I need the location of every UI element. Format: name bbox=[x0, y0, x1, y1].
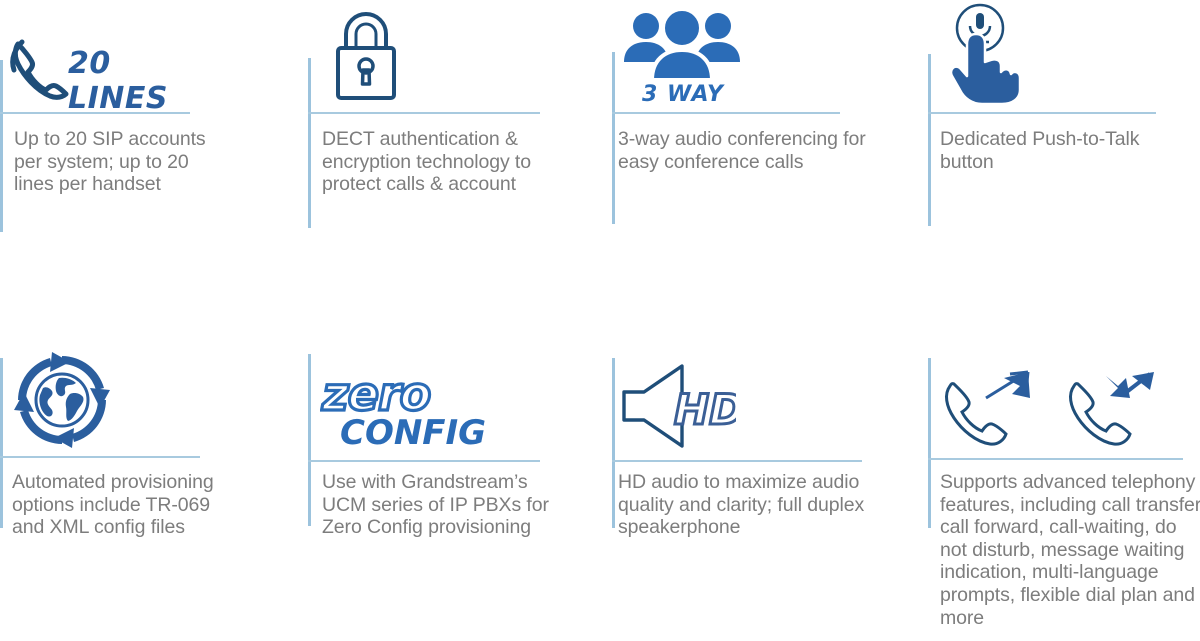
feature-description: Use with Grandstream’s UCM series of IP … bbox=[322, 471, 567, 539]
feature-cell-auto-provisioning: Automated provisioning options include T… bbox=[0, 340, 300, 641]
feature-cell-advanced-telephony: Supports advanced telephony features, in… bbox=[910, 340, 1200, 641]
horizontal-divider bbox=[308, 112, 540, 114]
feature-description: Supports advanced telephony features, in… bbox=[940, 471, 1200, 629]
feature-description: DECT authentication & encryption technol… bbox=[322, 128, 572, 196]
vertical-divider bbox=[928, 54, 931, 226]
horizontal-divider bbox=[308, 460, 540, 462]
feature-cell-three-way-conference: 3 WAY 3-way audio conferencing for easy … bbox=[600, 0, 910, 340]
vertical-divider bbox=[308, 58, 311, 228]
feature-cell-hd-audio: HD HD audio to maximize audio quality an… bbox=[600, 340, 910, 641]
padlock-icon bbox=[326, 8, 406, 109]
horizontal-divider bbox=[928, 458, 1183, 460]
vertical-divider bbox=[308, 354, 311, 526]
badge-3-way: 3 WAY bbox=[642, 82, 724, 107]
config-word: CONFIG bbox=[340, 413, 486, 450]
feature-cell-push-to-talk: Dedicated Push-to-Talk button bbox=[910, 0, 1200, 340]
vertical-divider bbox=[0, 60, 3, 232]
zero-config-logo-icon: zero CONFIG bbox=[320, 368, 500, 455]
globe-arrows-icon bbox=[12, 350, 112, 455]
feature-cell-sip-lines: 20 LINES Up to 20 SIP accounts per syste… bbox=[0, 0, 300, 340]
phone-handset-icon: 20 LINES bbox=[8, 38, 198, 113]
vertical-divider bbox=[928, 358, 931, 528]
feature-description: Automated provisioning options include T… bbox=[12, 471, 242, 539]
badge-20-lines: 20 LINES bbox=[68, 46, 198, 116]
hd-word: HD bbox=[674, 385, 736, 434]
hand-pressing-microphone-button-icon bbox=[938, 0, 1048, 113]
feature-cell-dect-security: DECT authentication & encryption technol… bbox=[300, 0, 600, 340]
horizontal-divider bbox=[612, 112, 840, 114]
call-transfer-forward-icon bbox=[938, 362, 1178, 453]
feature-description: HD audio to maximize audio quality and c… bbox=[618, 471, 868, 539]
three-people-icon: 3 WAY bbox=[618, 4, 748, 89]
feature-cell-zero-config: zero CONFIG Use with Grandstream’s UCM s… bbox=[300, 340, 600, 641]
feature-grid: 20 LINES Up to 20 SIP accounts per syste… bbox=[0, 0, 1200, 641]
vertical-divider bbox=[612, 358, 615, 528]
vertical-divider bbox=[0, 358, 3, 528]
horizontal-divider bbox=[612, 460, 862, 462]
feature-description: Dedicated Push-to-Talk button bbox=[940, 128, 1188, 173]
vertical-divider bbox=[612, 52, 615, 224]
hd-speaker-icon: HD bbox=[616, 362, 736, 457]
feature-description: Up to 20 SIP accounts per system; up to … bbox=[14, 128, 214, 196]
horizontal-divider bbox=[0, 456, 200, 458]
feature-description: 3-way audio conferencing for easy confer… bbox=[618, 128, 868, 173]
